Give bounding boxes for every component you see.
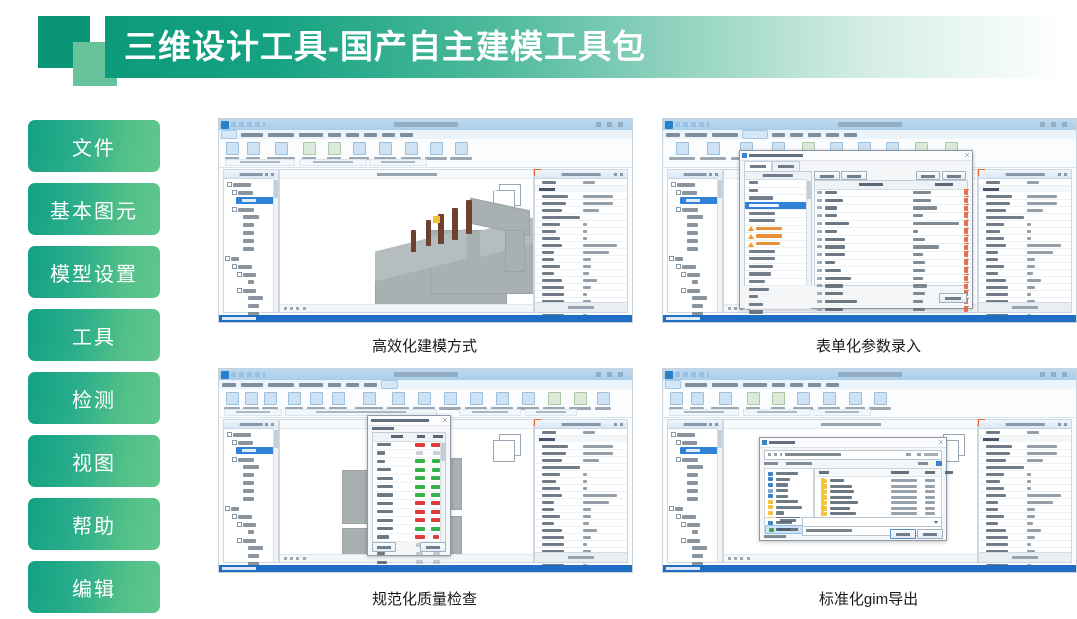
sidebar-item-primitive[interactable]: 基本图元 (28, 183, 160, 235)
ribbon-icon-check-model[interactable] (392, 392, 405, 405)
property-grid-header (535, 420, 627, 429)
screenshot-form-params[interactable] (662, 118, 1077, 323)
new-folder-button[interactable] (786, 462, 812, 465)
delete-icon[interactable] (964, 268, 968, 273)
ribbon-icon-export[interactable] (303, 142, 316, 155)
ribbon-icon-import[interactable] (772, 392, 785, 405)
ribbon-icon-unlock[interactable] (574, 392, 587, 405)
file-save-dialog[interactable] (759, 437, 947, 541)
window-title-bar (663, 119, 1076, 130)
status-badge (432, 459, 440, 463)
model-tree-scrollbar[interactable] (273, 428, 278, 562)
sidebar: 文件 基本图元 模型设置 工具 检测 视图 帮助 编辑 (0, 112, 190, 612)
ribbon-icon-new[interactable] (670, 392, 683, 405)
window-title-bar (219, 119, 632, 130)
sidebar-item-edit[interactable]: 编辑 (28, 561, 160, 613)
screenshot-gim-export[interactable] (662, 368, 1077, 573)
ribbon-icon-check[interactable] (849, 392, 862, 405)
ribbon-icon-save[interactable] (275, 142, 288, 155)
model-tree-header (668, 170, 722, 179)
quick-access-toolbar[interactable] (675, 372, 709, 377)
ribbon-icon-redo[interactable] (245, 392, 258, 405)
model-tree-scrollbar[interactable] (717, 428, 722, 562)
delete-icon[interactable] (964, 276, 968, 281)
view-mode-icon[interactable] (918, 462, 928, 465)
window-controls[interactable] (596, 122, 628, 127)
delete-icon[interactable] (964, 206, 968, 211)
refresh-icon[interactable] (917, 453, 921, 456)
filetype-label (776, 528, 798, 531)
delete-icon[interactable] (964, 229, 968, 234)
export-report-button[interactable] (420, 542, 446, 552)
ribbon-icon-library[interactable] (379, 142, 392, 155)
dialog-icon (742, 153, 747, 158)
check-table-scrollbar[interactable] (440, 441, 445, 542)
column-date[interactable] (891, 471, 909, 474)
app-logo-icon (665, 121, 673, 129)
table-row[interactable] (815, 306, 967, 315)
ribbon-toolbar[interactable] (219, 389, 632, 418)
property-grid-footer (979, 552, 1071, 562)
model-tree-selected-item[interactable] (236, 197, 276, 204)
app-window (219, 119, 632, 322)
model-tree-panel[interactable] (223, 169, 279, 313)
quick-access-toolbar[interactable] (675, 122, 709, 127)
ribbon-icon-delete[interactable] (264, 392, 277, 405)
column-type[interactable] (925, 471, 935, 474)
delete-icon[interactable] (964, 237, 968, 242)
help-icon[interactable] (936, 461, 942, 466)
viewport-3d[interactable] (279, 169, 534, 313)
property-grid-panel[interactable] (534, 419, 628, 563)
viewport-tab-bar (724, 420, 977, 429)
ribbon-toolbar[interactable] (219, 139, 632, 168)
app-logo-icon (221, 371, 229, 379)
sidebar-item-file[interactable]: 文件 (28, 120, 160, 172)
caption-modeling: 高效化建模方式 (218, 335, 631, 356)
caption-quality-check: 规范化质量检查 (218, 588, 631, 609)
file-list[interactable] (814, 468, 942, 518)
page-header: 三维设计工具-国产自主建模工具包 (0, 0, 1077, 95)
column-item (391, 435, 403, 438)
viewport-status-strip (724, 554, 977, 562)
document-title (838, 122, 902, 127)
quick-access-toolbar[interactable] (231, 122, 265, 127)
model-tree-panel[interactable] (667, 419, 723, 563)
ribbon-icon-save[interactable] (719, 392, 732, 405)
ribbon-icon-export-gim[interactable] (747, 392, 760, 405)
pin-icon[interactable] (614, 423, 624, 426)
parameter-category-list[interactable] (744, 171, 812, 286)
ribbon-icon-help[interactable] (430, 142, 443, 155)
delete-icon[interactable] (964, 213, 968, 218)
pin-icon[interactable] (709, 423, 719, 426)
property-grid-header (979, 170, 1071, 179)
search-input[interactable] (924, 453, 938, 456)
viewport-tab-bar (280, 170, 533, 179)
app-logo-icon (221, 121, 229, 129)
app-window (663, 119, 1076, 322)
ribbon-icon-about[interactable] (455, 142, 468, 155)
check-result-label (372, 427, 394, 430)
dialog-icon (762, 440, 767, 445)
ribbon-icon-check-geom[interactable] (470, 392, 483, 405)
category-list-scrollbar[interactable] (806, 179, 811, 285)
dialog-title-bar (368, 416, 450, 426)
caption-form-params: 表单化参数录入 (662, 335, 1075, 356)
file-list-header (815, 469, 941, 477)
dialog-level-toolbar[interactable] (814, 171, 968, 178)
dialog-tabs[interactable] (744, 161, 804, 170)
model-tree-panel[interactable] (667, 169, 723, 313)
parameter-table[interactable] (814, 180, 968, 286)
ribbon-icon-settings[interactable] (797, 392, 810, 405)
property-grid-header (535, 170, 627, 179)
organize-button[interactable] (764, 462, 778, 465)
model-tree-header (668, 420, 722, 429)
delete-icon[interactable] (964, 245, 968, 250)
property-grid-panel[interactable] (978, 169, 1072, 313)
nav-back-forward-icon[interactable] (768, 453, 782, 456)
column-name[interactable] (819, 471, 829, 474)
delete-icon[interactable] (964, 198, 968, 203)
column-result (417, 435, 425, 438)
delete-icon[interactable] (964, 221, 968, 226)
model-tree-scrollbar[interactable] (273, 178, 278, 312)
model-tree-scrollbar[interactable] (717, 178, 722, 312)
window-controls[interactable] (1040, 372, 1072, 377)
navigation-pane[interactable] (764, 468, 814, 518)
ribbon-icon-check-attr[interactable] (444, 392, 457, 405)
ribbon-icon-open[interactable] (691, 392, 704, 405)
delete-icon[interactable] (964, 252, 968, 257)
ribbon-icon-array[interactable] (310, 392, 323, 405)
delete-icon[interactable] (964, 260, 968, 265)
ribbon-icon-check-naming[interactable] (418, 392, 431, 405)
ribbon-icon-undo[interactable] (226, 392, 239, 405)
property-grid-footer (535, 302, 627, 312)
pin-icon[interactable] (1058, 423, 1068, 426)
sidebar-item-inspect[interactable]: 检测 (28, 372, 160, 424)
window-controls[interactable] (1040, 122, 1072, 127)
dialog-title-bar (740, 151, 972, 161)
warning-triangle-icon (748, 242, 754, 247)
pin-icon[interactable] (614, 173, 624, 176)
status-bar (219, 315, 632, 322)
property-grid-panel[interactable] (534, 169, 628, 313)
window-title-bar (663, 369, 1076, 380)
status-bar (663, 315, 1076, 322)
import-button[interactable] (916, 171, 940, 180)
column-detail (433, 435, 443, 438)
model-tree-panel[interactable] (223, 419, 279, 563)
dialog-toolbar[interactable] (764, 460, 942, 467)
screenshot-modeling[interactable] (218, 118, 633, 323)
property-grid-panel[interactable] (978, 419, 1072, 563)
filename-label (780, 519, 796, 522)
recheck-button[interactable] (372, 542, 396, 552)
window-controls[interactable] (596, 372, 628, 377)
view-cube-icon[interactable] (493, 432, 527, 466)
ribbon-icon-new[interactable] (226, 142, 239, 155)
property-grid-footer (535, 552, 627, 562)
app-window (219, 369, 632, 572)
warning-triangle-icon (748, 226, 754, 231)
parameter-entry-dialog[interactable] (739, 150, 973, 309)
close-icon[interactable] (939, 440, 943, 444)
close-icon[interactable] (443, 418, 447, 422)
level-up-button[interactable] (814, 171, 840, 180)
ribbon-icon-help[interactable] (874, 392, 887, 405)
column-value (935, 183, 953, 186)
model-tree-header (224, 420, 278, 429)
ribbon-icon-check[interactable] (405, 142, 418, 155)
ribbon-icon-move[interactable] (332, 392, 345, 405)
ribbon-icon-settings[interactable] (353, 142, 366, 155)
column-name (859, 183, 883, 186)
ribbon-icon-section[interactable] (522, 392, 535, 405)
delete-icon[interactable] (964, 284, 968, 289)
dialog-ok-button[interactable] (939, 293, 967, 303)
status-badge (415, 459, 425, 463)
quick-access-toolbar[interactable] (231, 372, 265, 377)
ribbon-icon-assembly[interactable] (707, 142, 720, 155)
pin-icon[interactable] (1058, 173, 1068, 176)
warning-triangle-icon (748, 234, 754, 239)
model-tree-selected-item[interactable] (680, 197, 720, 204)
page-title: 三维设计工具-国产自主建模工具包 (124, 16, 646, 78)
ribbon-icon-filter[interactable] (597, 392, 610, 405)
app-logo-icon (665, 371, 673, 379)
export-button[interactable] (942, 171, 966, 180)
sidebar-item-model-settings[interactable]: 模型设置 (28, 246, 160, 298)
document-title (394, 122, 458, 127)
app-window (663, 369, 1076, 572)
status-bar (663, 565, 1076, 572)
status-badge (415, 443, 425, 447)
ribbon-icon-check-rule[interactable] (363, 392, 376, 405)
property-grid-footer (979, 302, 1071, 312)
close-icon[interactable] (965, 153, 969, 157)
sidebar-item-view[interactable]: 视图 (28, 435, 160, 487)
ribbon-icon-copy[interactable] (288, 392, 301, 405)
ribbon-icon-lock[interactable] (548, 392, 561, 405)
quality-check-dialog[interactable] (367, 415, 451, 556)
viewport-status-strip (280, 304, 533, 312)
document-title (838, 372, 902, 377)
column-size[interactable] (945, 471, 953, 474)
delete-icon[interactable] (964, 307, 968, 312)
property-grid-header (979, 420, 1071, 429)
caption-gim-export: 标准化gim导出 (662, 588, 1075, 609)
hide-folders-toggle[interactable] (764, 535, 786, 538)
status-bar (219, 565, 632, 572)
ribbon-icon-component[interactable] (676, 142, 689, 155)
address-bar[interactable] (764, 450, 942, 460)
cancel-button[interactable] (917, 529, 943, 539)
level-down-button[interactable] (841, 171, 867, 180)
sidebar-item-help[interactable]: 帮助 (28, 498, 160, 550)
pin-icon[interactable] (265, 173, 275, 176)
ribbon-icon-measure[interactable] (496, 392, 509, 405)
save-button[interactable] (890, 529, 916, 539)
ribbon-icon-open[interactable] (247, 142, 260, 155)
window-title-bar (219, 369, 632, 380)
sidebar-item-tools[interactable]: 工具 (28, 309, 160, 361)
delete-icon[interactable] (964, 190, 968, 195)
pin-icon[interactable] (709, 173, 719, 176)
ribbon-icon-import[interactable] (328, 142, 341, 155)
chevron-down-icon[interactable] (934, 521, 938, 524)
model-tree-header (224, 170, 278, 179)
ribbon-icon-library[interactable] (823, 392, 836, 405)
screenshot-quality-check[interactable] (218, 368, 633, 573)
pin-icon[interactable] (265, 423, 275, 426)
model-tree-selected-item[interactable] (236, 447, 276, 454)
document-title (394, 372, 458, 377)
check-result-table[interactable] (372, 432, 446, 542)
ribbon-toolbar[interactable] (663, 389, 1076, 418)
model-tree-selected-item[interactable] (680, 447, 720, 454)
dialog-title-bar (760, 438, 946, 448)
